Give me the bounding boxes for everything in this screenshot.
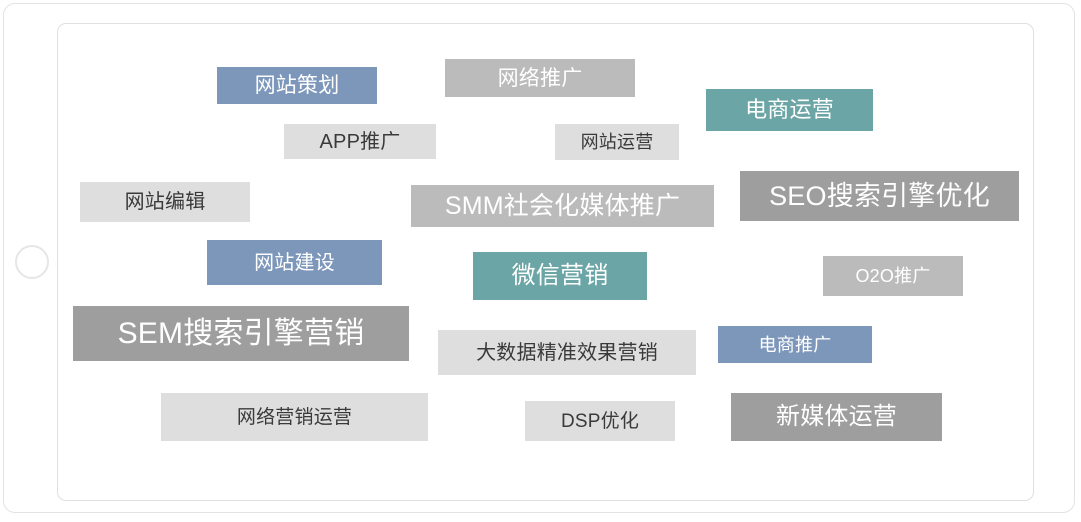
tag-dsp-youhua[interactable]: DSP优化 — [525, 401, 675, 441]
tag-xinmeiti-yunying[interactable]: 新媒体运营 — [731, 393, 942, 441]
tag-weixin-yingxiao[interactable]: 微信营销 — [473, 252, 647, 300]
tag-dianshang-yunying[interactable]: 电商运营 — [706, 89, 873, 131]
tag-wangzhan-bianji[interactable]: 网站编辑 — [80, 182, 250, 222]
screenshot-canvas: 网站策划网络推广电商运营APP推广网站运营网站编辑SMM社会化媒体推广SEO搜索… — [0, 0, 1081, 522]
tag-dashuju-yingxiao[interactable]: 大数据精准效果营销 — [438, 330, 696, 375]
tag-wangluo-yx-yunying[interactable]: 网络营销运营 — [161, 393, 428, 441]
tag-wangzhan-cehua[interactable]: 网站策划 — [217, 67, 377, 104]
tablet-screen: 网站策划网络推广电商运营APP推广网站运营网站编辑SMM社会化媒体推广SEO搜索… — [57, 23, 1034, 501]
tag-wangluo-tuiguang[interactable]: 网络推广 — [445, 59, 635, 97]
tag-smm-tuiguang[interactable]: SMM社会化媒体推广 — [411, 185, 714, 227]
tag-wangzhan-jianshe[interactable]: 网站建设 — [207, 240, 382, 285]
tag-app-tuiguang[interactable]: APP推广 — [284, 124, 436, 159]
tag-sem-yingxiao[interactable]: SEM搜索引擎营销 — [73, 306, 409, 361]
tag-o2o-tuiguang[interactable]: O2O推广 — [823, 256, 963, 296]
tag-dianshang-tuiguang[interactable]: 电商推广 — [718, 326, 872, 363]
tag-wangzhan-yunying[interactable]: 网站运营 — [555, 124, 679, 160]
tag-seo-youhua[interactable]: SEO搜索引擎优化 — [740, 171, 1019, 221]
tablet-home-button[interactable] — [15, 245, 49, 279]
